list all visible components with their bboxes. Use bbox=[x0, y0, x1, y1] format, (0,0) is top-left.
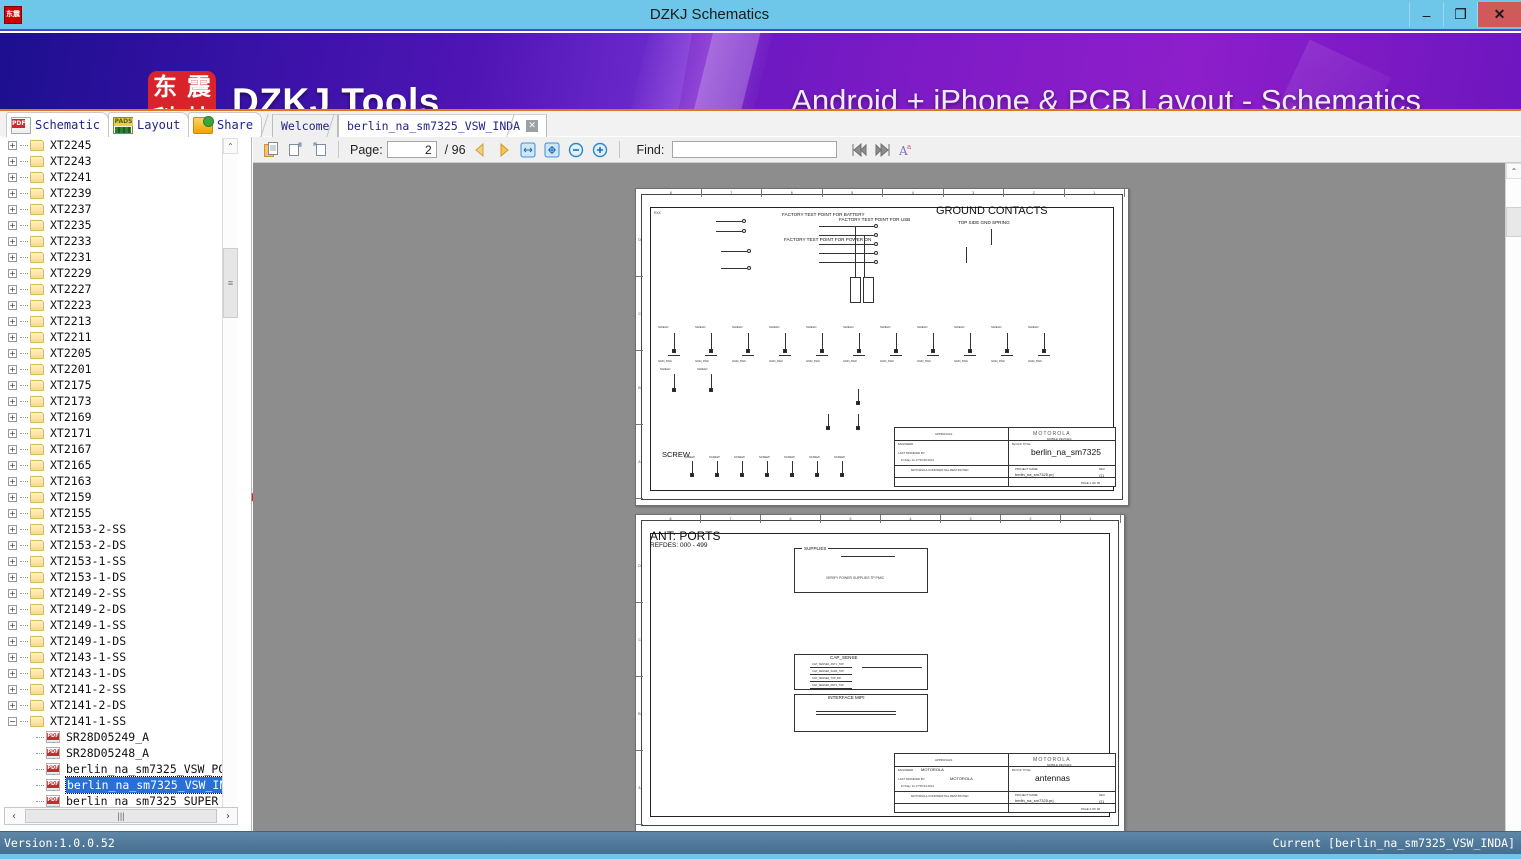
tb2-block-title-label: BLOCK TITLE bbox=[1012, 768, 1030, 772]
tree-connector bbox=[36, 785, 44, 786]
expand-icon[interactable]: + bbox=[8, 701, 17, 710]
expand-icon[interactable]: + bbox=[8, 589, 17, 598]
tree-folder-row[interactable]: +XT2149-2-SS bbox=[0, 585, 236, 601]
gnd-pad-label: SHIELD bbox=[732, 325, 742, 329]
tree-connector bbox=[36, 801, 44, 802]
gnd-pad-square bbox=[783, 349, 787, 353]
screw-square bbox=[690, 473, 694, 477]
prev-page-arrow-icon[interactable] bbox=[470, 140, 490, 160]
expand-icon[interactable]: + bbox=[8, 541, 17, 550]
gnd-pad-stem bbox=[711, 333, 712, 349]
folder-icon bbox=[30, 316, 44, 327]
tree-file-row[interactable]: berlin_na_sm7325_VSW_POST bbox=[0, 761, 236, 777]
usb-net-line bbox=[819, 262, 874, 263]
tree-folder-row[interactable]: +XT2155 bbox=[0, 505, 236, 521]
title-bar: 东震 DZKJ Schematics – ❐ ✕ bbox=[0, 0, 1521, 31]
tp-circle bbox=[747, 249, 751, 253]
expand-icon[interactable]: + bbox=[8, 189, 17, 198]
tree-folder-row[interactable]: +XT2167 bbox=[0, 441, 236, 457]
find-label: Find: bbox=[637, 143, 665, 157]
zone-col: 5 bbox=[821, 515, 881, 523]
mid-sym-square bbox=[826, 426, 830, 430]
close-icon[interactable]: ✕ bbox=[526, 120, 538, 132]
tree-folder-row[interactable]: +XT2175 bbox=[0, 377, 236, 393]
tab-share-label: Share bbox=[217, 118, 253, 132]
sidebar-panel: +XT2245+XT2243+XT2241+XT2239+XT2237+XT22… bbox=[0, 137, 252, 831]
tb2-approvals: APPROVALS bbox=[935, 758, 952, 762]
folder-icon bbox=[30, 476, 44, 487]
tab-layout[interactable]: Layout bbox=[108, 112, 189, 137]
expand-icon[interactable]: + bbox=[8, 349, 17, 358]
expand-icon[interactable]: + bbox=[8, 301, 17, 310]
tree-folder-label: XT2245 bbox=[50, 137, 92, 153]
expand-icon[interactable]: + bbox=[8, 477, 17, 486]
tree-folder-label: XT2171 bbox=[50, 425, 92, 441]
sheet-2-supplies-note: VERIFY POWER SUPPLIES TP PMIC bbox=[826, 576, 884, 580]
expand-icon[interactable]: + bbox=[8, 525, 17, 534]
gnd-pad-label: SHIELD bbox=[917, 325, 927, 329]
status-current-file: Current [berlin_na_sm7325_VSW_INDA] bbox=[1273, 836, 1515, 850]
tree-folder-row[interactable]: +XT2153-1-SS bbox=[0, 553, 236, 569]
screw-stem bbox=[817, 461, 818, 473]
expand-icon[interactable]: + bbox=[8, 269, 17, 278]
zone-row: A bbox=[636, 425, 643, 499]
tree-folder-row-expanded[interactable]: −XT2141-1-SS bbox=[0, 713, 236, 729]
scroll-right-arrow-icon[interactable]: › bbox=[219, 808, 237, 824]
expand-icon[interactable]: + bbox=[8, 573, 17, 582]
gnd-pad-stem bbox=[933, 333, 934, 349]
expand-icon[interactable]: + bbox=[8, 429, 17, 438]
viewer-scroll-up-icon[interactable]: ⌃ bbox=[1506, 163, 1521, 179]
folder-icon bbox=[30, 572, 44, 583]
toolbar-separator-1 bbox=[338, 141, 339, 158]
tb1-div-3 bbox=[895, 465, 1115, 466]
tree-connector bbox=[20, 561, 28, 562]
file-tree[interactable]: +XT2245+XT2243+XT2241+XT2239+XT2237+XT22… bbox=[0, 137, 236, 811]
pdf-file-icon bbox=[46, 731, 60, 743]
folder-icon bbox=[30, 268, 44, 279]
tree-folder-label: XT2149-1-DS bbox=[50, 633, 126, 649]
window-title: DZKJ Schematics bbox=[28, 6, 1521, 23]
usb-net-line bbox=[819, 253, 874, 254]
maximize-button[interactable]: ❐ bbox=[1443, 2, 1477, 27]
window-controls: – ❐ ✕ bbox=[1409, 2, 1521, 29]
folder-icon bbox=[30, 364, 44, 375]
zone-col: 1 bbox=[1065, 189, 1126, 197]
expand-icon[interactable]: + bbox=[8, 605, 17, 614]
find-next-icon[interactable] bbox=[873, 140, 893, 160]
gnd-pad-tick bbox=[705, 355, 717, 356]
tree-folder-label: XT2149-2-DS bbox=[50, 601, 126, 617]
tree-connector bbox=[20, 241, 28, 242]
tree-folder-row[interactable]: +XT2233 bbox=[0, 233, 236, 249]
tree-folder-row[interactable]: +XT2159 bbox=[0, 489, 236, 505]
tree-folder-label: XT2205 bbox=[50, 345, 92, 361]
viewer-scroll-thumb[interactable] bbox=[1506, 207, 1521, 237]
tree-folder-row[interactable]: +XT2141-2-SS bbox=[0, 681, 236, 697]
scroll-up-arrow-icon[interactable]: ⌃ bbox=[223, 138, 238, 154]
expand-icon[interactable]: + bbox=[8, 669, 17, 678]
page-input[interactable]: 2 bbox=[387, 141, 437, 158]
tp-stub bbox=[721, 268, 747, 269]
gnd-pad2-square bbox=[709, 388, 713, 392]
expand-icon[interactable]: + bbox=[8, 365, 17, 374]
tree-file-row[interactable]: SR28D05249_A bbox=[0, 729, 236, 745]
tree-folder-row[interactable]: +XT2241 bbox=[0, 169, 236, 185]
tree-folder-row[interactable]: +XT2149-1-SS bbox=[0, 617, 236, 633]
tb2-project: berlin_na_sm7325.prj bbox=[1015, 798, 1053, 803]
sheet-2-mipi-label: INTERFACE MIPI bbox=[828, 695, 865, 700]
folder-icon bbox=[30, 588, 44, 599]
expand-icon[interactable]: + bbox=[8, 493, 17, 502]
capsense-net-line bbox=[810, 681, 852, 682]
expand-icon[interactable]: + bbox=[8, 333, 17, 342]
folder-icon bbox=[30, 188, 44, 199]
expand-icon[interactable]: + bbox=[8, 509, 17, 518]
expand-icon[interactable]: + bbox=[8, 397, 17, 406]
close-button[interactable]: ✕ bbox=[1477, 2, 1521, 27]
zoom-in-icon[interactable] bbox=[590, 140, 610, 160]
screw-stem bbox=[692, 461, 693, 473]
zone-row: A bbox=[636, 751, 643, 825]
tree-folder-row[interactable]: +XT2171 bbox=[0, 425, 236, 441]
gnd-pad2-stem bbox=[674, 374, 675, 388]
gnd-pad-name: GND_PAD bbox=[991, 359, 1005, 363]
gnd-pad-label: SHIELD bbox=[658, 325, 668, 329]
tree-folder-row[interactable]: +XT2169 bbox=[0, 409, 236, 425]
tree-file-row[interactable]: SR28D05248_A bbox=[0, 745, 236, 761]
zone-row: C bbox=[636, 603, 643, 677]
tree-folder-row[interactable]: +XT2153-2-DS bbox=[0, 537, 236, 553]
zone-col: 3 bbox=[941, 515, 1001, 523]
page-left-icon[interactable] bbox=[285, 140, 305, 160]
tree-folder-row[interactable]: +XT2141-2-DS bbox=[0, 697, 236, 713]
find-match-case-icon[interactable]: Aa bbox=[897, 140, 917, 160]
gnd-pad-name: GND_PAD bbox=[880, 359, 894, 363]
folder-icon bbox=[30, 444, 44, 455]
tree-file-row[interactable]: berlin_na_sm7325_VSW_INDA bbox=[0, 777, 236, 793]
copy-page-icon[interactable] bbox=[261, 140, 281, 160]
tb1-rev: O1 bbox=[1099, 473, 1104, 478]
tree-connector bbox=[20, 433, 28, 434]
expand-icon[interactable]: + bbox=[8, 221, 17, 230]
tree-folder-row[interactable]: +XT2153-1-DS bbox=[0, 569, 236, 585]
screw-stem bbox=[742, 461, 743, 473]
tree-folder-row[interactable]: +XT2201 bbox=[0, 361, 236, 377]
gnd-pad-tick bbox=[964, 355, 976, 356]
expand-icon[interactable]: + bbox=[8, 637, 17, 646]
tree-connector bbox=[20, 497, 28, 498]
find-prev-icon[interactable] bbox=[849, 140, 869, 160]
tb2-engineer: MOTOROLA bbox=[921, 767, 944, 772]
folder-icon bbox=[30, 652, 44, 663]
tree-folder-row[interactable]: +XT2173 bbox=[0, 393, 236, 409]
folder-icon bbox=[30, 668, 44, 679]
viewer-vertical-scrollbar[interactable]: ⌃ bbox=[1505, 163, 1521, 831]
zone-col: 2 bbox=[1001, 515, 1061, 523]
mid-sym-square bbox=[856, 426, 860, 430]
sheet-1-heading-poweron: FACTORY TEST POINT FOR POWER ON bbox=[784, 237, 871, 242]
screw-stem bbox=[842, 461, 843, 473]
folder-icon bbox=[30, 428, 44, 439]
tb2-div-4 bbox=[895, 803, 1115, 804]
screw-stem bbox=[792, 461, 793, 473]
sheet-2-subtitle: REFDES: 000 - 499 bbox=[650, 542, 707, 549]
gnd-pad-tick bbox=[1001, 355, 1013, 356]
usb-net-pin bbox=[874, 260, 878, 264]
tree-connector bbox=[20, 289, 28, 290]
mid-sym-stem bbox=[858, 414, 859, 426]
tree-connector bbox=[20, 609, 28, 610]
folder-icon bbox=[30, 460, 44, 471]
tab-schematic-label: Schematic bbox=[35, 118, 100, 132]
tree-folder-label: XT2159 bbox=[50, 489, 92, 505]
tree-connector bbox=[20, 417, 28, 418]
tab-share[interactable]: Share bbox=[188, 112, 262, 137]
mid-sym-square bbox=[856, 401, 860, 405]
tree-folder-row[interactable]: +XT2149-2-DS bbox=[0, 601, 236, 617]
collapse-icon[interactable]: − bbox=[8, 717, 17, 726]
gnd-pad-stem bbox=[970, 333, 971, 349]
gnd-pad2-label: SHIELD bbox=[697, 367, 707, 371]
gnd-pad-label: SHIELD bbox=[991, 325, 1001, 329]
expand-icon[interactable]: + bbox=[8, 461, 17, 470]
tree-connector bbox=[20, 401, 28, 402]
sheet-2-title: ANT: PORTS bbox=[650, 529, 720, 543]
gnd-pad-tick bbox=[742, 355, 754, 356]
sheet-2-title-block: APPROVALS ENGINEER MOTOROLA LAST MODIFIE… bbox=[894, 753, 1116, 813]
tree-folder-label: XT2223 bbox=[50, 297, 92, 313]
tree-folder-row[interactable]: +XT2243 bbox=[0, 153, 236, 169]
expand-icon[interactable]: + bbox=[8, 205, 17, 214]
tree-connector bbox=[20, 577, 28, 578]
tree-folder-row[interactable]: +XT2153-2-SS bbox=[0, 521, 236, 537]
schematic-sheet-2[interactable]: 87654321 DCBA ANT: PORTS REFDES: 000 - 4… bbox=[635, 514, 1125, 831]
folder-icon bbox=[30, 540, 44, 551]
tree-connector bbox=[20, 513, 28, 514]
capsense-net-line bbox=[810, 688, 852, 689]
tree-folder-label: XT2141-2-SS bbox=[50, 681, 126, 697]
tb2-block-title: antennas bbox=[1035, 773, 1070, 783]
scroll-thumb[interactable]: ≡ bbox=[223, 248, 238, 318]
usb-bus-2 bbox=[864, 235, 865, 278]
tree-vertical-scrollbar[interactable]: ⌃ ≡ bbox=[222, 138, 237, 810]
tree-connector bbox=[20, 145, 28, 146]
tree-folder-label: XT2155 bbox=[50, 505, 92, 521]
tree-folder-label: XT2153-1-SS bbox=[50, 553, 126, 569]
pads-icon bbox=[113, 117, 133, 134]
expand-icon[interactable]: + bbox=[8, 445, 17, 454]
app-logo-icon: 东震 bbox=[4, 6, 22, 24]
tree-folder-row[interactable]: +XT2143-1-DS bbox=[0, 665, 236, 681]
gnd-pad-tick bbox=[779, 355, 791, 356]
gnd-pad-name: GND_PAD bbox=[769, 359, 783, 363]
gnd-spring-2 bbox=[966, 247, 967, 263]
expand-icon[interactable]: + bbox=[8, 317, 17, 326]
expand-icon[interactable]: + bbox=[8, 621, 17, 630]
screw-stem bbox=[717, 461, 718, 473]
expand-icon[interactable]: + bbox=[8, 237, 17, 246]
zone-col: 7 bbox=[702, 189, 763, 197]
screw-label: SCREW bbox=[709, 455, 720, 459]
expand-icon[interactable]: + bbox=[8, 173, 17, 182]
tree-folder-row[interactable]: +XT2205 bbox=[0, 345, 236, 361]
sheet-2-supplies-box bbox=[794, 548, 928, 593]
tree-horizontal-scrollbar[interactable]: ‹ ||| › bbox=[4, 807, 238, 825]
tree-connector bbox=[20, 209, 28, 210]
folder-icon bbox=[30, 684, 44, 695]
brand-name: DZKJ Tools bbox=[232, 81, 440, 109]
tree-file-label: SR28D05248_A bbox=[66, 745, 149, 761]
pdf-file-icon bbox=[46, 747, 60, 759]
expand-icon[interactable]: + bbox=[8, 381, 17, 390]
tp-circle bbox=[742, 219, 746, 223]
tree-folder-row[interactable]: +XT2143-1-SS bbox=[0, 649, 236, 665]
folder-icon bbox=[30, 604, 44, 615]
tb1-page: PAGE 2 OF 96 bbox=[1081, 481, 1100, 485]
expand-icon[interactable]: + bbox=[8, 653, 17, 662]
folder-icon bbox=[30, 156, 44, 167]
zone-row: B bbox=[636, 351, 643, 425]
tp-circle bbox=[747, 266, 751, 270]
doc-tab-berlin-label: berlin_na_sm7325_VSW_INDA bbox=[347, 119, 520, 133]
expand-icon[interactable]: + bbox=[8, 685, 17, 694]
usb-connector-b bbox=[863, 277, 874, 303]
tree-folder-row[interactable]: +XT2211 bbox=[0, 329, 236, 345]
expand-icon[interactable]: + bbox=[8, 557, 17, 566]
tree-folder-label: XT2153-1-DS bbox=[50, 569, 126, 585]
tree-folder-row[interactable]: +XT2239 bbox=[0, 185, 236, 201]
gnd-pad-name: GND_PAD bbox=[732, 359, 746, 363]
sheet-2-capsense-label: CAP_SENSE bbox=[830, 655, 858, 660]
gnd-pad-tick bbox=[853, 355, 865, 356]
zone-row: B bbox=[636, 677, 643, 751]
gnd-pad2-square bbox=[672, 388, 676, 392]
tree-folder-row[interactable]: +XT2213 bbox=[0, 313, 236, 329]
fit-width-icon[interactable] bbox=[518, 140, 538, 160]
tree-folder-label: XT2169 bbox=[50, 409, 92, 425]
usb-net-pin bbox=[874, 251, 878, 255]
tree-connector bbox=[20, 337, 28, 338]
tree-folder-row[interactable]: +XT2165 bbox=[0, 457, 236, 473]
folder-icon bbox=[30, 412, 44, 423]
expand-icon[interactable]: + bbox=[8, 141, 17, 150]
tb1-project: berlin_na_sm7325.prj bbox=[1015, 472, 1053, 477]
pdf-file-icon bbox=[46, 763, 60, 775]
gnd-pad-stem bbox=[785, 333, 786, 349]
tree-folder-row[interactable]: +XT2149-1-DS bbox=[0, 633, 236, 649]
gnd-pad-square bbox=[1042, 349, 1046, 353]
tree-folder-row[interactable]: +XT2245 bbox=[0, 137, 236, 153]
gnd-pad-name: GND_PAD bbox=[806, 359, 820, 363]
tree-folder-row[interactable]: +XT2227 bbox=[0, 281, 236, 297]
banner-subtitle: Android + iPhone & PCB Layout - Schemati… bbox=[791, 83, 1421, 109]
gnd-pad-name: GND_PAD bbox=[695, 359, 709, 363]
expand-icon[interactable]: + bbox=[8, 253, 17, 262]
tree-connector bbox=[20, 673, 28, 674]
usb-net-pin bbox=[874, 233, 878, 237]
hscroll-thumb[interactable]: ||| bbox=[25, 809, 217, 823]
expand-icon[interactable]: + bbox=[8, 285, 17, 294]
status-bar: Version:1.0.0.52 Current [berlin_na_sm73… bbox=[0, 831, 1521, 859]
tp-circle bbox=[742, 229, 746, 233]
screw-label: SCREW bbox=[759, 455, 770, 459]
document-canvas[interactable]: 87654321 DCBA EXX FACTORY TEST POINT FOR… bbox=[253, 163, 1521, 831]
tree-folder-row[interactable]: +XT2229 bbox=[0, 265, 236, 281]
fit-page-icon[interactable] bbox=[542, 140, 562, 160]
scroll-left-arrow-icon[interactable]: ‹ bbox=[5, 808, 23, 824]
gnd-pad-label: SHIELD bbox=[769, 325, 779, 329]
gnd-pad-square bbox=[746, 349, 750, 353]
tree-file-label: berlin_na_sm7325_VSW_INDA bbox=[66, 777, 236, 793]
gnd-pad-stem bbox=[748, 333, 749, 349]
sheet-2-mipi-net2 bbox=[816, 714, 896, 715]
tree-folder-row[interactable]: +XT2223 bbox=[0, 297, 236, 313]
schematic-sheet-1[interactable]: 87654321 DCBA EXX FACTORY TEST POINT FOR… bbox=[635, 188, 1129, 506]
tree-connector bbox=[36, 737, 44, 738]
tree-folder-label: XT2235 bbox=[50, 217, 92, 233]
screw-square bbox=[840, 473, 844, 477]
tree-folder-row[interactable]: +XT2163 bbox=[0, 473, 236, 489]
zoom-out-icon[interactable] bbox=[566, 140, 586, 160]
gnd-pad-stem bbox=[896, 333, 897, 349]
tree-folder-row[interactable]: +XT2231 bbox=[0, 249, 236, 265]
page-right-icon[interactable] bbox=[309, 140, 329, 160]
sheet-1-heading-ground: GROUND CONTACTS bbox=[936, 205, 1048, 217]
tab-layout-label: Layout bbox=[137, 118, 180, 132]
gnd-pad-label: SHIELD bbox=[954, 325, 964, 329]
gnd-pad-square bbox=[894, 349, 898, 353]
zone-col: 6 bbox=[761, 515, 821, 523]
gnd-pad-square bbox=[857, 349, 861, 353]
tree-folder-label: XT2239 bbox=[50, 185, 92, 201]
gnd-pad-tick bbox=[927, 355, 939, 356]
tree-connector bbox=[20, 529, 28, 530]
tree-folder-label: XT2237 bbox=[50, 201, 92, 217]
tree-connector bbox=[20, 193, 28, 194]
capsense-net-label: CAP_SENSE0_ANT1_TOP bbox=[812, 663, 844, 666]
tree-folder-row[interactable]: +XT2235 bbox=[0, 217, 236, 233]
tab-schematic[interactable]: Schematic bbox=[6, 112, 109, 137]
logo-char-2: 震 bbox=[187, 74, 211, 100]
tree-folder-label: XT2149-1-SS bbox=[50, 617, 126, 633]
gnd-spring-1 bbox=[991, 229, 992, 245]
tree-folder-label: XT2231 bbox=[50, 249, 92, 265]
gnd-pad-square bbox=[931, 349, 935, 353]
tb1-confidential: MOTOROLA CONFIDENTIAL RESTRICTED bbox=[911, 468, 969, 472]
folder-icon bbox=[30, 172, 44, 183]
expand-icon[interactable]: + bbox=[8, 413, 17, 422]
sheet-1-heading-usb: FACTORY TEST POINT FOR USB bbox=[839, 217, 910, 222]
tree-folder-label: XT2173 bbox=[50, 393, 92, 409]
folder-icon bbox=[30, 332, 44, 343]
expand-icon[interactable]: + bbox=[8, 157, 17, 166]
capsense-net-label: CAP_SENSE0_ANT2_TOP bbox=[812, 684, 844, 687]
zone-col: 8 bbox=[641, 515, 701, 523]
minimize-button[interactable]: – bbox=[1409, 2, 1443, 27]
find-input[interactable] bbox=[672, 141, 837, 158]
folder-share-icon bbox=[193, 117, 213, 134]
gnd-pad-label: SHIELD bbox=[695, 325, 705, 329]
tree-connector bbox=[20, 369, 28, 370]
tree-connector bbox=[20, 465, 28, 466]
next-page-arrow-icon[interactable] bbox=[494, 140, 514, 160]
tb1-modified-label: LAST MODIFIED BY: bbox=[898, 451, 925, 455]
tree-folder-row[interactable]: +XT2237 bbox=[0, 201, 236, 217]
screw-label: SCREW bbox=[784, 455, 795, 459]
tp-stub bbox=[721, 251, 747, 252]
tree-connector bbox=[20, 273, 28, 274]
